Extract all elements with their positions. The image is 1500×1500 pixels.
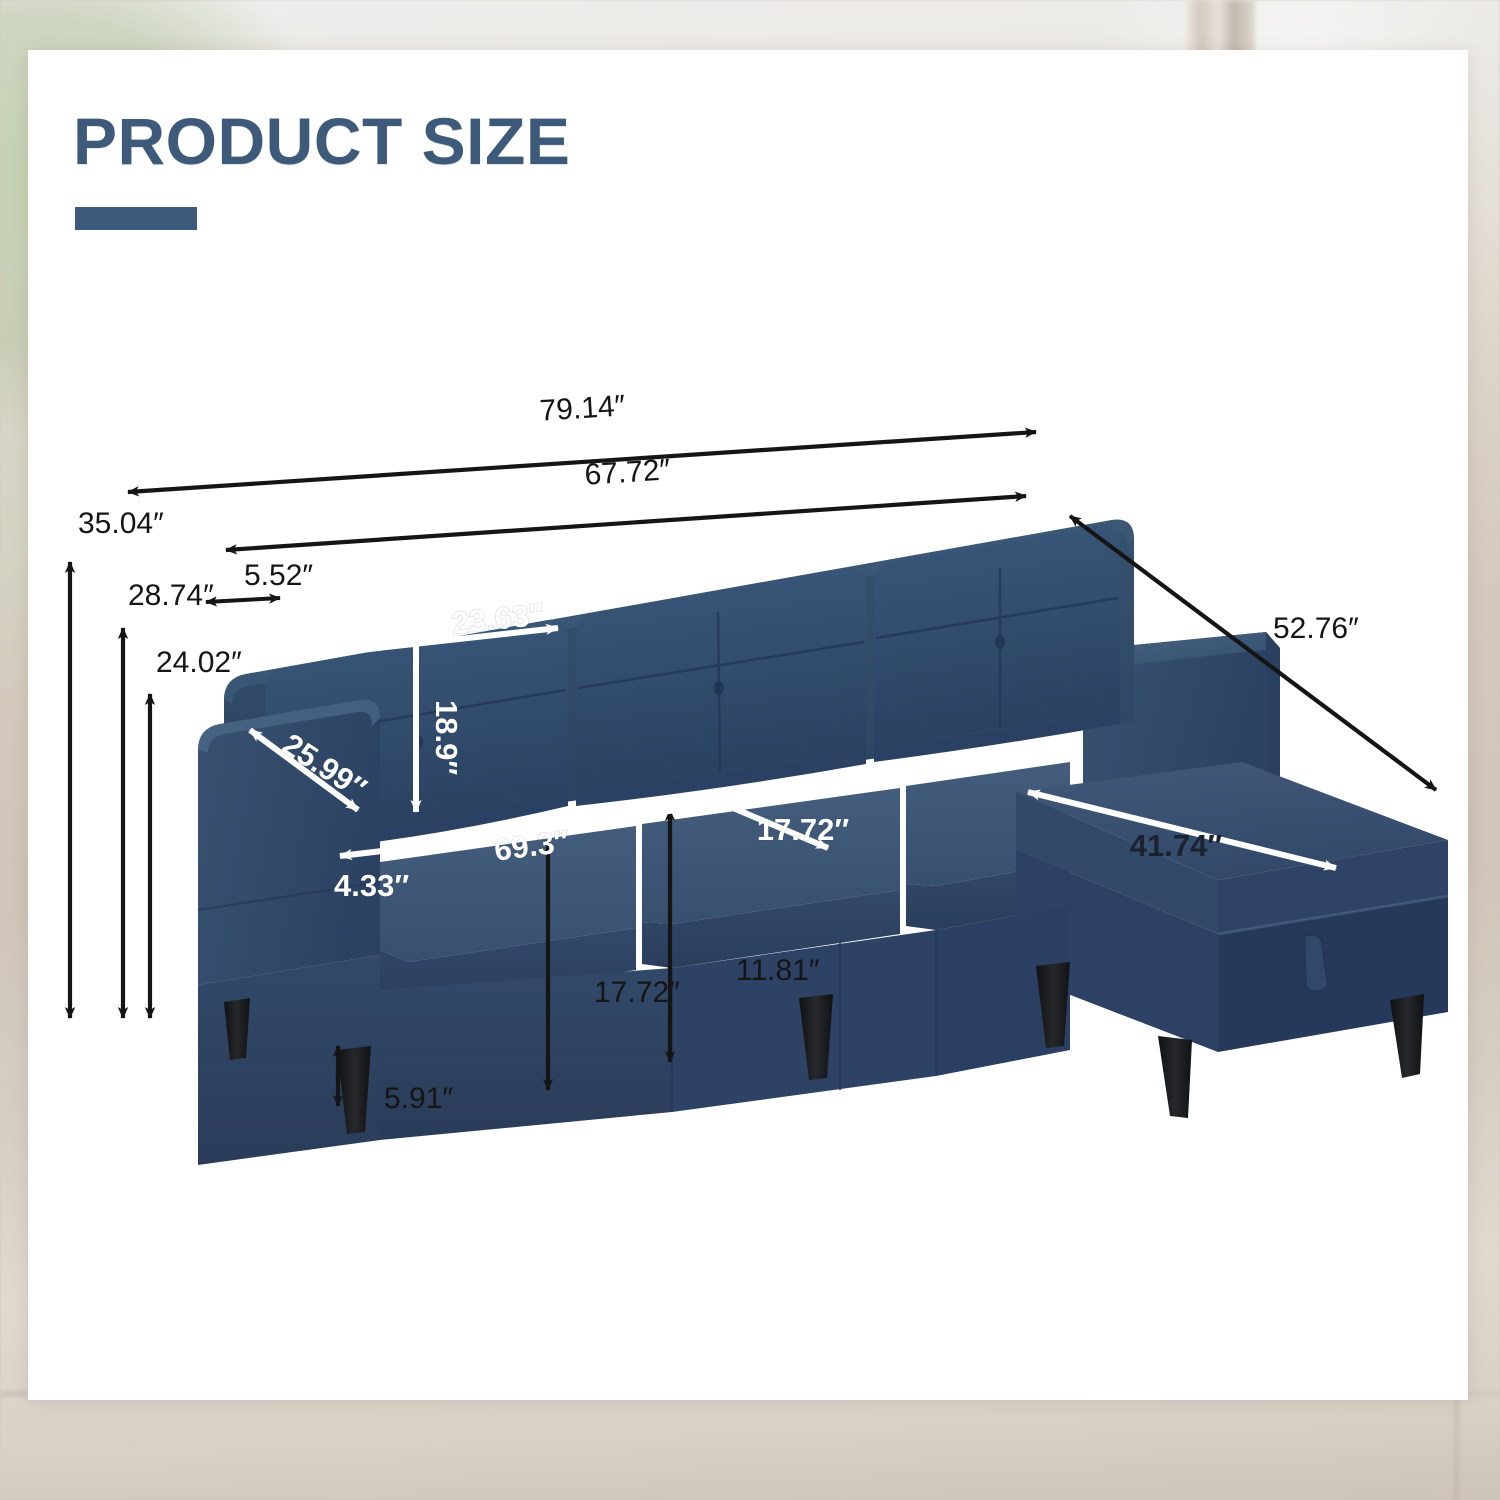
dimline-overall-width-outer: [128, 432, 1036, 492]
label-overall-depth: 52.76″: [1273, 612, 1359, 645]
product-size-card: PRODUCT SIZE: [28, 50, 1468, 1400]
label-leg-height: 5.91″: [384, 1082, 453, 1115]
label-overall-height: 35.04″: [78, 507, 164, 540]
label-overall-width-inner: 67.72″: [584, 453, 672, 491]
dimline-back-top-thickness: [206, 598, 280, 602]
label-back-top-thickness: 5.52″: [244, 559, 313, 592]
dimension-diagram: 79.14″ 67.72″ 35.04″ 28.74″ 24.02″ 5.52″…: [28, 50, 1468, 1400]
label-arm-height: 24.02″: [156, 646, 242, 679]
leg-chaise-right: [1390, 994, 1424, 1078]
label-back-cushion-height: 18.9″: [429, 700, 464, 775]
label-seat-depth: 17.72″: [757, 812, 850, 847]
dimline-overall-width-inner: [226, 496, 1026, 550]
label-seat-height: 17.72″: [594, 976, 680, 1009]
background-floor-seam: [1455, 1400, 1458, 1500]
label-under-seat-clearance: 11.81″: [736, 954, 820, 987]
label-arm-width: 4.33″: [334, 868, 409, 903]
label-chaise-length: 41.74″: [1130, 828, 1223, 863]
label-overall-width-outer: 79.14″: [539, 389, 627, 427]
label-back-height: 28.74″: [128, 579, 214, 612]
leg-chaise-front: [1158, 1036, 1192, 1118]
